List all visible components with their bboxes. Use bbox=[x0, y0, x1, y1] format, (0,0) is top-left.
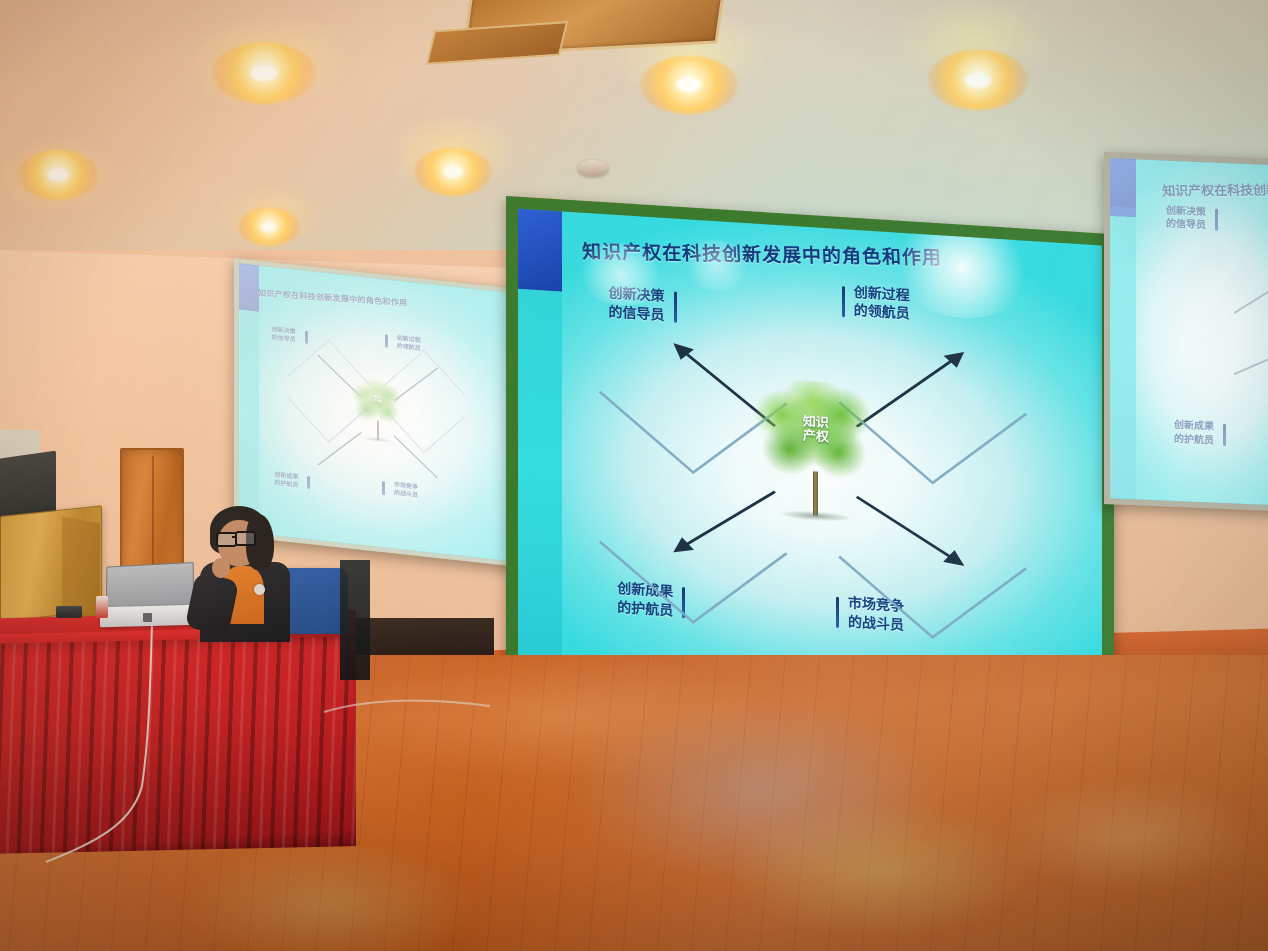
slide-label-line2: 的信导员 bbox=[1166, 219, 1206, 232]
slide-title: 知识产权在科技创新发展中的角色和作用 bbox=[582, 237, 943, 270]
smoke-detector-icon bbox=[578, 160, 608, 176]
slide-label-bottom-left: 创新成果 的护航员 bbox=[274, 471, 298, 489]
microphone-base bbox=[56, 606, 82, 618]
presenter-glasses-bridge bbox=[232, 536, 237, 538]
ceiling-downlight bbox=[640, 56, 738, 114]
ceiling-downlight bbox=[928, 50, 1028, 110]
slide-label-line2: 的护航员 bbox=[274, 479, 298, 489]
slide-side-band-top bbox=[518, 209, 562, 291]
slide-label-line1: 创新决策 bbox=[1166, 206, 1206, 219]
slide-label-bottom-left: 创新成果 的护航员 bbox=[1174, 419, 1214, 447]
label-accent-bar bbox=[842, 286, 845, 317]
slide-label-top-left: 创新决策 的信导员 bbox=[1166, 205, 1206, 233]
slide-label-line2: 的信导员 bbox=[609, 304, 665, 324]
slide-side-band-top bbox=[239, 264, 259, 312]
slide-label-top-left: 创新决策 的信导员 bbox=[272, 326, 296, 344]
slide-tree-graphic: 知识 产权 bbox=[348, 377, 408, 448]
presenter-table-skirt bbox=[0, 636, 356, 854]
slide-label-bottom-left: 创新成果 的护航员 bbox=[617, 580, 673, 620]
presenter bbox=[196, 500, 316, 640]
laptop-logo-icon bbox=[143, 613, 152, 622]
slide-label-line2: 的领航员 bbox=[397, 342, 421, 352]
ceiling-downlight bbox=[212, 42, 316, 104]
slide-label-line1: 创新成果 bbox=[1174, 420, 1214, 433]
tree-shadow bbox=[765, 506, 866, 525]
stage-drape bbox=[340, 560, 370, 680]
slide-label-line2: 的战斗员 bbox=[848, 614, 904, 634]
tree-label-line2: 产权 bbox=[803, 429, 829, 446]
tree-label-line2: 产权 bbox=[374, 399, 382, 405]
slide-label-line2: 的领航员 bbox=[854, 303, 910, 323]
lecture-hall-photo: 知识产权在科技创新发展中的角色和作用 创新决策 的信导员 创新过程 的领航员 创… bbox=[0, 0, 1268, 951]
label-accent-bar bbox=[382, 481, 385, 495]
slide-label-line1: 创新决策 bbox=[609, 286, 665, 306]
slide-tree-graphic: 知识 产权 bbox=[746, 378, 886, 532]
label-accent-bar bbox=[1223, 423, 1226, 445]
slide-label-top-right: 创新过程 的领航员 bbox=[397, 334, 421, 352]
slide-label-line2: 的护航员 bbox=[1174, 434, 1214, 447]
slide-title: 知识产权在科技创新发展中的角色和作用 bbox=[1162, 178, 1268, 199]
slide-title: 知识产权在科技创新发展中的角色和作用 bbox=[258, 287, 408, 308]
ceiling-downlight bbox=[414, 148, 492, 196]
label-accent-bar bbox=[682, 587, 685, 618]
slide-side-band-top bbox=[1110, 158, 1136, 207]
slide-label-bottom-right: 市场竞争 的战斗员 bbox=[848, 595, 904, 635]
center-screen-slide: 知识产权在科技创新发展中的角色和作用 创新决策 的信导员 创新过程 的领航员 创… bbox=[518, 209, 1102, 714]
slide-label-line2: 的护航员 bbox=[617, 600, 673, 620]
slide-label-line1: 创新成果 bbox=[617, 581, 673, 601]
right-screen-slide: 知识产权在科技创新发展中的角色和作用 创新决策 的信导员 创新成果 的护航员 bbox=[1110, 158, 1268, 506]
ceiling-downlight bbox=[18, 150, 98, 200]
slide-label-top-left: 创新决策 的信导员 bbox=[609, 285, 665, 325]
label-accent-bar bbox=[305, 331, 308, 345]
presenter-badge bbox=[254, 584, 265, 595]
presenter-hand bbox=[212, 558, 230, 578]
label-accent-bar bbox=[674, 292, 677, 323]
slide-side-band bbox=[1110, 158, 1136, 499]
label-accent-bar bbox=[1215, 209, 1218, 231]
tree-shadow bbox=[356, 435, 399, 445]
slide-label-bottom-right: 市场竞争 的战斗员 bbox=[394, 481, 418, 499]
slide-label-line2: 的信导员 bbox=[272, 334, 296, 344]
center-projection-screen: 知识产权在科技创新发展中的角色和作用 创新决策 的信导员 创新过程 的领航员 创… bbox=[506, 196, 1114, 726]
slide-label-top-right: 创新过程 的领航员 bbox=[854, 284, 910, 324]
right-projection-screen: 知识产权在科技创新发展中的角色和作用 创新决策 的信导员 创新成果 的护航员 bbox=[1104, 152, 1268, 513]
label-accent-bar bbox=[385, 334, 388, 348]
label-accent-bar bbox=[307, 476, 310, 490]
presenter-glasses-icon bbox=[216, 532, 237, 547]
slide-label-line1: 市场竞争 bbox=[848, 596, 904, 616]
slide-label-line2: 的战斗员 bbox=[394, 489, 418, 499]
label-accent-bar bbox=[836, 597, 839, 628]
slide-label-line1: 创新过程 bbox=[854, 285, 910, 305]
ceiling-downlight bbox=[238, 208, 300, 246]
presenter-glasses-icon bbox=[235, 531, 256, 546]
water-cup[interactable] bbox=[96, 596, 108, 618]
